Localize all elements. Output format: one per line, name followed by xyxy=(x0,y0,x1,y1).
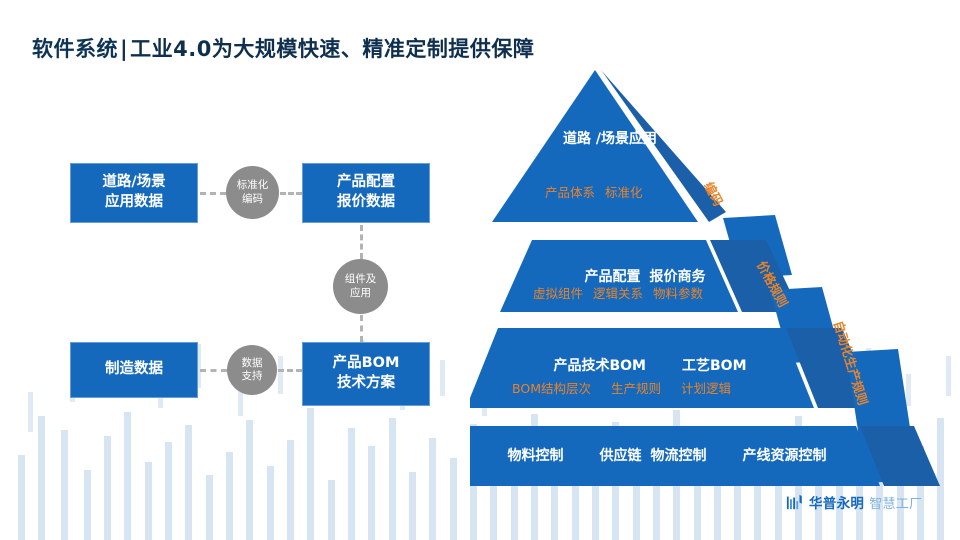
pyramid-tier-4-label[interactable]: 物料控制供应链物流控制产线资源控制 xyxy=(492,447,842,465)
node-label-line1: 制造数据 xyxy=(105,360,163,380)
connector-data-support[interactable]: 数据 支持 xyxy=(227,345,277,395)
connector-label-line2: 应用 xyxy=(350,287,371,300)
pyramid-tier-1-label[interactable]: 道路 /场景应用 xyxy=(555,130,665,148)
caption-3-item-2: 生产规则 xyxy=(611,381,661,396)
node-label-line1: 产品配置 xyxy=(337,173,395,193)
caption-1-item-2: 标准化 xyxy=(605,185,643,200)
tier-1-line2: /场景应用 xyxy=(596,131,657,147)
node-label-line2: 技术方案 xyxy=(337,374,395,394)
tier-4-item-2: 供应链 xyxy=(600,448,642,464)
node-label-line2: 报价数据 xyxy=(337,193,395,213)
tier-4-item-3: 物流控制 xyxy=(651,448,707,464)
title-separator: | xyxy=(118,37,130,61)
node-manufacturing-data[interactable]: 制造数据 xyxy=(70,342,198,398)
caption-2-item-2: 逻辑关系 xyxy=(593,286,643,301)
node-label-line2: 应用数据 xyxy=(105,193,163,213)
caption-2-item-3: 物料参数 xyxy=(653,286,703,301)
data-flow-diagram: 道路/场景 应用数据 产品配置 报价数据 制造数据 产品BOM 技术方案 标准化… xyxy=(0,0,480,540)
pyramid-diagram: 道路 /场景应用 产品体系标准化 编码 产品配置报价商务 虚拟组件逻辑关系物料参… xyxy=(470,60,940,490)
logo-tagline-text: 智慧工厂 xyxy=(869,493,922,512)
tier-3-item-1: 产品技术BOM xyxy=(553,358,646,374)
pyramid-caption-3: BOM结构层次生产规则计划逻辑 xyxy=(512,378,731,397)
connector-road-to-standard xyxy=(200,192,226,195)
tier-1-line1: 道路 xyxy=(563,131,591,147)
caption-3-item-1: BOM结构层次 xyxy=(512,381,591,396)
tier-4-item-1: 物料控制 xyxy=(508,448,564,464)
connector-label-line1: 标准化 xyxy=(237,179,269,192)
company-logo: 华普永明 智慧工厂 xyxy=(786,492,922,512)
pyramid-tier-3-label[interactable]: 产品技术BOM工艺BOM xyxy=(525,357,775,375)
connector-standard-to-product xyxy=(280,192,302,195)
caption-2-item-1: 虚拟组件 xyxy=(533,286,583,301)
connector-label-line1: 组件及 xyxy=(345,273,377,286)
connector-label-line2: 编码 xyxy=(242,193,263,206)
logo-mark-icon xyxy=(786,493,804,511)
connector-component-apply[interactable]: 组件及 应用 xyxy=(333,259,388,314)
caption-3-item-3: 计划逻辑 xyxy=(681,381,731,396)
tier-4-item-4: 产线资源控制 xyxy=(743,448,827,464)
node-label-line1: 产品BOM xyxy=(333,354,400,374)
pyramid-caption-1: 产品体系标准化 xyxy=(545,182,643,201)
node-road-scene-data[interactable]: 道路/场景 应用数据 xyxy=(70,163,198,223)
title-segment-2: 工业4.0为大规模快速、精准定制提供保障 xyxy=(130,37,534,61)
connector-label-line2: 支持 xyxy=(242,370,263,383)
connector-label-line1: 数据 xyxy=(242,357,263,370)
connector-mfg-to-data xyxy=(200,369,227,372)
tier-3-item-2: 工艺BOM xyxy=(682,358,747,374)
page-title: 软件系统|工业4.0为大规模快速、精准定制提供保障 xyxy=(32,33,534,63)
connector-data-to-bom xyxy=(278,369,302,372)
connector-component-to-bom xyxy=(360,315,363,342)
connector-standard-coding[interactable]: 标准化 编码 xyxy=(226,166,279,219)
caption-1-item-1: 产品体系 xyxy=(545,185,595,200)
pyramid-caption-2: 虚拟组件逻辑关系物料参数 xyxy=(533,283,703,302)
logo-brand-text: 华普永明 xyxy=(809,492,864,512)
node-product-bom-tech[interactable]: 产品BOM 技术方案 xyxy=(302,342,430,406)
connector-product-to-component xyxy=(360,225,363,259)
node-label-line1: 道路/场景 xyxy=(102,173,165,193)
title-segment-1: 软件系统 xyxy=(32,37,118,61)
node-product-config-quote[interactable]: 产品配置 报价数据 xyxy=(302,163,430,223)
